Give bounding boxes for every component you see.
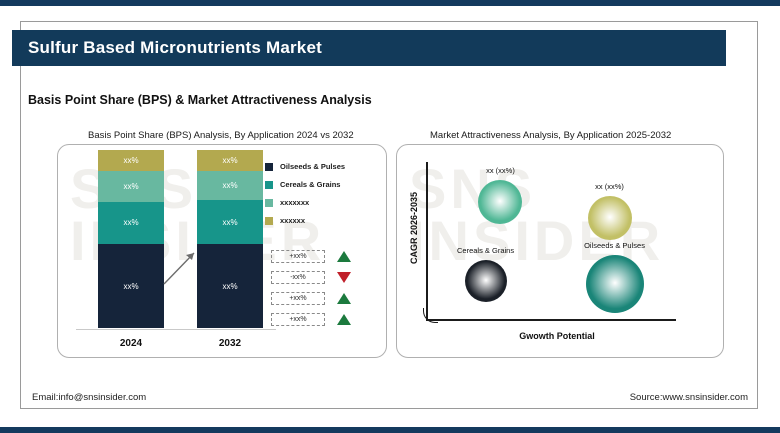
legend-swatch-icon bbox=[265, 199, 273, 207]
legend-label: Cereals & Grains bbox=[280, 180, 340, 189]
legend-item: xxxxxxx bbox=[265, 198, 345, 207]
delta-value: +xx% bbox=[271, 292, 325, 305]
bar-column-2024: xx%xx%xx%xx% bbox=[98, 150, 164, 328]
legend-label: xxxxxxx bbox=[280, 198, 309, 207]
delta-badge-row: +xx% bbox=[271, 313, 351, 326]
legend-item: xxxxxx bbox=[265, 216, 345, 225]
bar-label-2024: 2024 bbox=[98, 338, 164, 349]
triangle-up-icon bbox=[337, 314, 351, 325]
legend-item: Oilseeds & Pulses bbox=[265, 162, 345, 171]
bar-segment: xx% bbox=[98, 171, 164, 201]
legend-swatch-icon bbox=[265, 181, 273, 189]
x-axis-line bbox=[426, 319, 676, 321]
delta-value: -xx% bbox=[271, 271, 325, 284]
bubble-marker[interactable] bbox=[586, 255, 644, 313]
bps-chart-panel: SNS INSIDER xx%xx%xx%xx% xx%xx%xx%xx% 20… bbox=[57, 144, 387, 358]
delta-badge-row: +xx% bbox=[271, 292, 351, 305]
bar-segment: xx% bbox=[98, 202, 164, 245]
bar-label-2032: 2032 bbox=[197, 338, 263, 349]
legend-item: Cereals & Grains bbox=[265, 180, 345, 189]
triangle-up-icon bbox=[337, 293, 351, 304]
bubble-label: xx (xx%) bbox=[440, 166, 560, 175]
legend-label: Oilseeds & Pulses bbox=[280, 162, 345, 171]
footer-source: Source:www.snsinsider.com bbox=[630, 392, 748, 403]
bar-segment: xx% bbox=[197, 200, 263, 245]
triangle-down-icon bbox=[337, 272, 351, 283]
bottom-accent-strip bbox=[0, 427, 780, 433]
axis-corner bbox=[423, 308, 438, 323]
delta-value: +xx% bbox=[271, 250, 325, 263]
bar-segment: xx% bbox=[98, 150, 164, 171]
legend-swatch-icon bbox=[265, 217, 273, 225]
bubble-marker[interactable] bbox=[588, 196, 632, 240]
bar-segment: xx% bbox=[98, 244, 164, 328]
bubble-label: Cereals & Grains bbox=[426, 246, 546, 255]
bubble-marker[interactable] bbox=[465, 260, 507, 302]
page-subtitle: Basis Point Share (BPS) & Market Attract… bbox=[28, 93, 372, 107]
bps-legend: Oilseeds & PulsesCereals & Grainsxxxxxxx… bbox=[265, 162, 345, 234]
top-accent-strip bbox=[0, 0, 780, 6]
bubble-label: Oilseeds & Pulses bbox=[555, 241, 675, 250]
bar-column-2032: xx%xx%xx%xx% bbox=[197, 150, 263, 328]
delta-value: +xx% bbox=[271, 313, 325, 326]
bps-baseline bbox=[76, 329, 276, 330]
y-axis-label: CAGR 2026-2035 bbox=[409, 178, 419, 278]
delta-badge-row: +xx% bbox=[271, 250, 351, 263]
y-axis-line bbox=[426, 162, 428, 320]
delta-badge-row: -xx% bbox=[271, 271, 351, 284]
bar-segment: xx% bbox=[197, 171, 263, 199]
bar-segment: xx% bbox=[197, 244, 263, 328]
bubble-marker[interactable] bbox=[478, 180, 522, 224]
page-title: Sulfur Based Micronutrients Market bbox=[12, 38, 322, 58]
legend-label: xxxxxx bbox=[280, 216, 305, 225]
footer-email: Email:info@snsinsider.com bbox=[32, 392, 146, 403]
title-bar: Sulfur Based Micronutrients Market bbox=[12, 30, 726, 66]
bar-segment: xx% bbox=[197, 150, 263, 171]
x-axis-label: Gwowth Potential bbox=[457, 331, 657, 341]
legend-swatch-icon bbox=[265, 163, 273, 171]
bubble-label: xx (xx%) bbox=[550, 182, 670, 191]
growth-trend-arrow-icon bbox=[161, 247, 199, 287]
attractiveness-chart-title: Market Attractiveness Analysis, By Appli… bbox=[430, 130, 671, 141]
triangle-up-icon bbox=[337, 251, 351, 262]
bps-chart-title: Basis Point Share (BPS) Analysis, By App… bbox=[88, 130, 354, 141]
bps-delta-badges: +xx%-xx%+xx%+xx% bbox=[271, 250, 351, 334]
attractiveness-chart-panel: SNS INSIDER CAGR 2026-2035 Gwowth Potent… bbox=[396, 144, 724, 358]
